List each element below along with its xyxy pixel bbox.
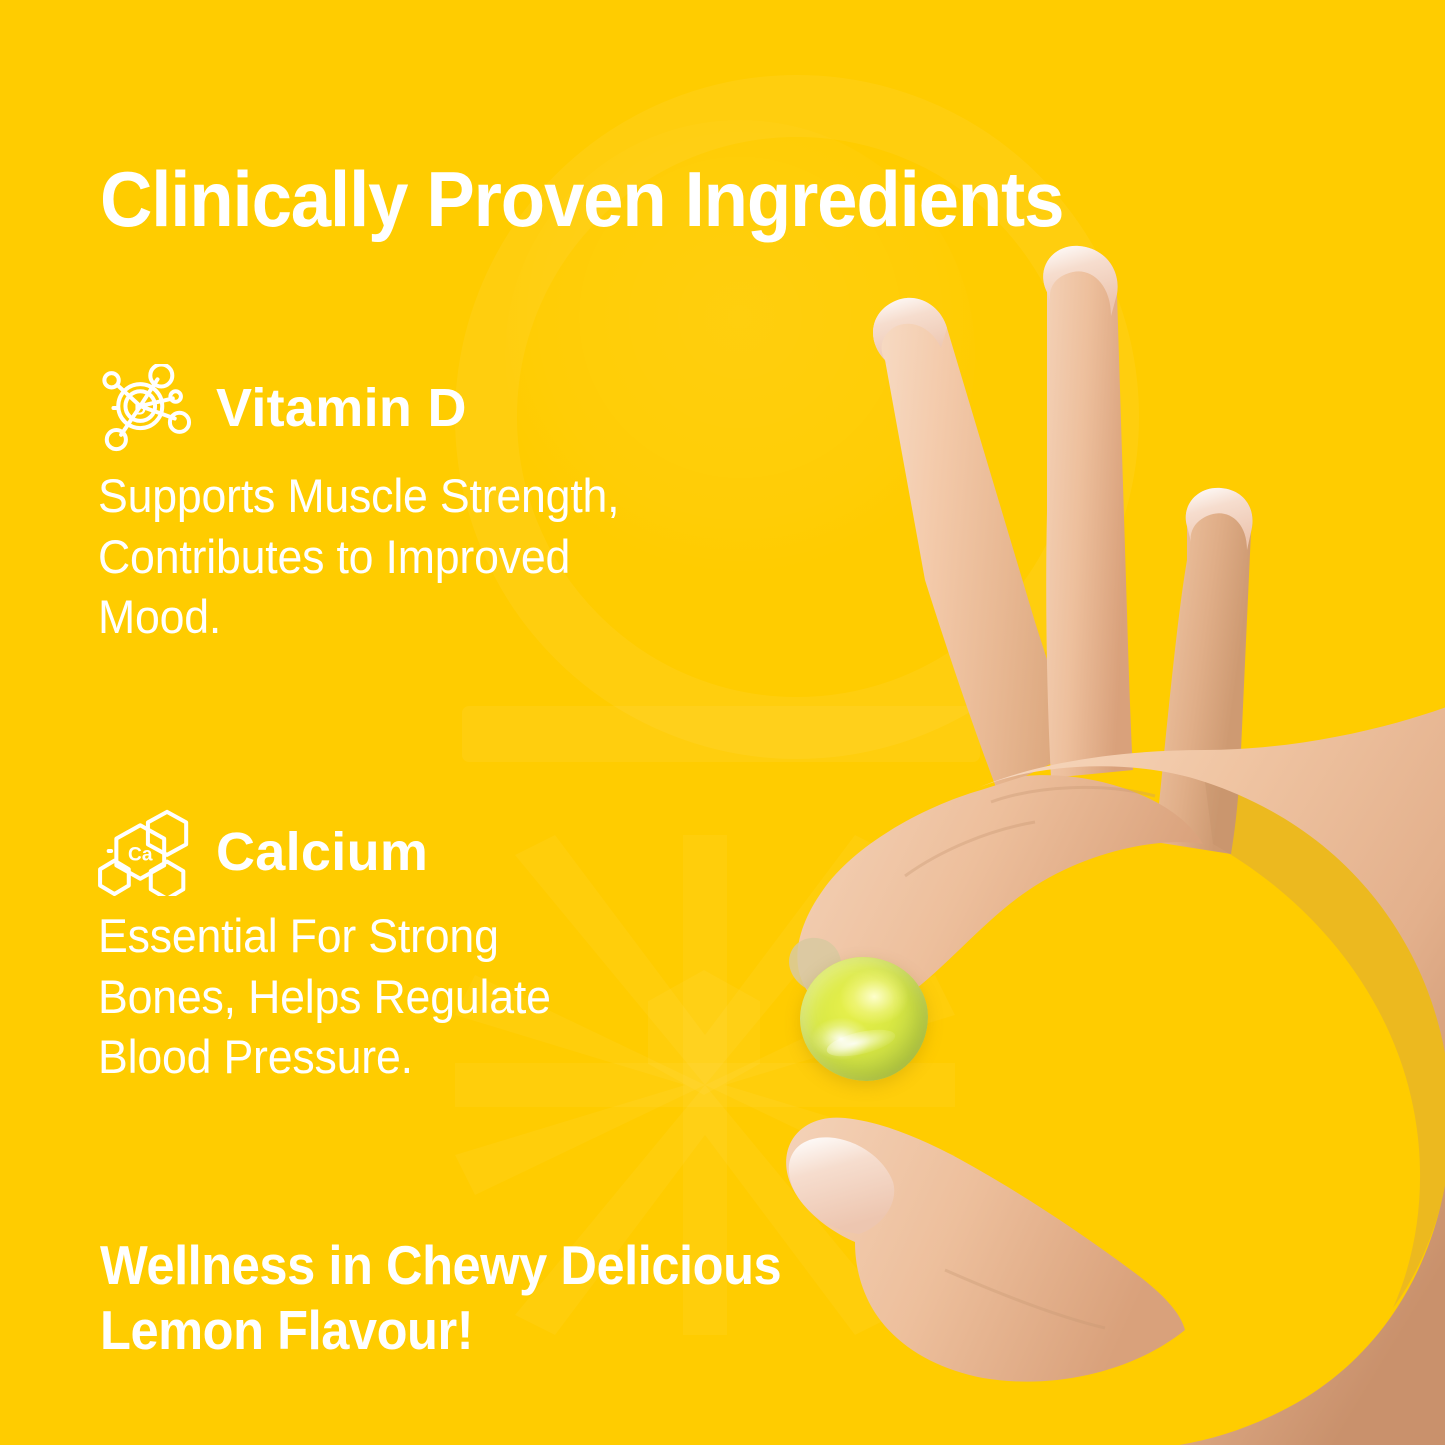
desc-line: Mood. [98,587,763,648]
ingredient-header: Ca Calcium [98,806,798,898]
ingredient-block-vitamin-d: D Vitamin D Supports Muscle Strength, Co… [98,362,798,648]
desc-line: Essential For Strong [98,906,687,967]
ingredient-description-calcium: Essential For Strong Bones, Helps Regula… [98,906,687,1088]
molecule-vitamin-d-icon: D [98,364,194,452]
tagline-line: Wellness in Chewy Delicious [100,1233,799,1298]
desc-line: Blood Pressure. [98,1027,687,1088]
ingredient-title-calcium: Calcium [216,825,428,879]
gummy-capsule [800,957,928,1081]
ingredient-title-vitamin-d: Vitamin D [216,381,467,435]
calcium-icon-label: Ca [128,845,153,866]
vitamin-d-icon-label: D [134,401,146,419]
desc-line: Contributes to Improved [98,527,763,588]
tagline: Wellness in Chewy Delicious Lemon Flavou… [100,1233,799,1363]
ingredient-header: D Vitamin D [98,362,798,454]
index-finger [1043,246,1133,778]
hand-illustration [735,230,1445,1445]
tagline-line: Lemon Flavour! [100,1298,799,1363]
product-feature-poster: Clinically Proven Ingredients [0,0,1445,1445]
desc-line: Supports Muscle Strength, [98,466,763,527]
page-title: Clinically Proven Ingredients [100,160,1123,240]
ingredient-block-calcium: Ca Calcium Essential For Strong Bones, H… [98,806,798,1088]
hexagon-calcium-icon: Ca [98,808,194,896]
hand-image [735,230,1445,1445]
ingredient-description-vitamin-d: Supports Muscle Strength, Contributes to… [98,466,763,648]
desc-line: Bones, Helps Regulate [98,967,687,1028]
